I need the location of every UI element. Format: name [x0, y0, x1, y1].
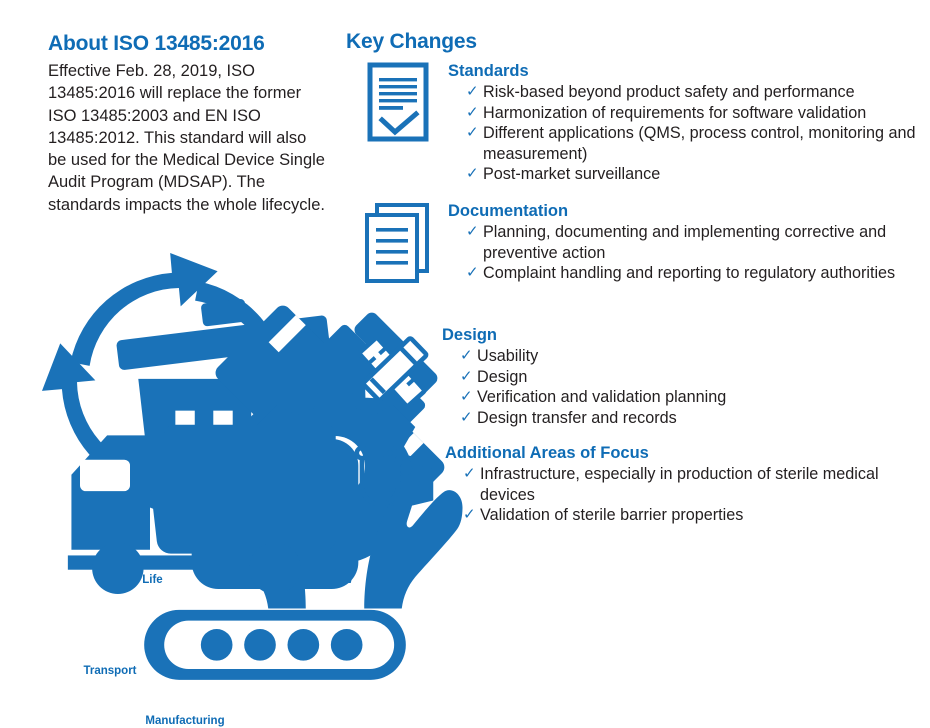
about-heading: About ISO 13485:2016	[48, 32, 265, 56]
bullet-item: ✓ Risk-based beyond product safety and p…	[466, 82, 930, 103]
check-icon: ✓	[466, 222, 479, 243]
bullet-item: ✓ Complaint handling and reporting to re…	[466, 263, 930, 284]
change-section-title: Design	[442, 326, 726, 345]
change-section-standards: Standards ✓ Risk-based beyond product sa…	[348, 58, 930, 185]
change-section-icon	[348, 58, 448, 142]
change-section-additional-areas-of-focus: x Additional Areas of Focus ✓ Infrastruc…	[345, 440, 930, 530]
bullet-item: ✓ Design transfer and records	[460, 408, 726, 429]
change-section-text: Design ✓ Usability ✓ Design ✓ Verificati…	[442, 322, 726, 428]
check-icon: ✓	[460, 387, 473, 408]
delivery-truck-icon	[50, 364, 350, 664]
left-column: About ISO 13485:2016 Effective Feb. 28, …	[0, 0, 340, 553]
bullet-item: ✓ Post-market surveillance	[466, 164, 930, 185]
bullet-text: Planning, documenting and implementing c…	[483, 223, 886, 262]
change-section-title: Documentation	[448, 202, 930, 221]
change-section-icon	[342, 322, 442, 418]
right-column: Key Changes Standards ✓ Risk-ba	[340, 0, 930, 553]
change-section-title: Additional Areas of Focus	[445, 444, 930, 463]
check-icon: ✓	[460, 367, 473, 388]
check-icon: ✓	[466, 103, 479, 124]
change-section-documentation: Documentation ✓ Planning, documenting an…	[348, 198, 930, 284]
bullet-item: ✓ Harmonization of requirements for soft…	[466, 103, 930, 124]
check-icon: ✓	[463, 464, 476, 485]
lifecycle-stage-label: Transport	[50, 665, 170, 678]
change-section-design: Design ✓ Usability ✓ Design ✓ Verificati…	[342, 322, 726, 428]
check-icon: ✓	[460, 408, 473, 429]
document-check-icon	[367, 62, 429, 142]
bullet-item: ✓ Different applications (QMS, process c…	[466, 123, 930, 164]
change-section-text: Documentation ✓ Planning, documenting an…	[448, 198, 930, 284]
change-section-icon	[348, 198, 448, 284]
bullet-item: ✓ Design	[460, 367, 726, 388]
change-section-bullets: ✓ Infrastructure, especially in producti…	[445, 464, 930, 526]
lifecycle-stage-label: Manufacturing	[125, 715, 245, 728]
bullet-text: Verification and validation planning	[477, 388, 726, 406]
bullet-text: Risk-based beyond product safety and per…	[483, 83, 855, 101]
lifecycle-stage-transport: Transport	[50, 364, 170, 678]
check-icon: ✓	[466, 263, 479, 284]
bullet-item: ✓ Planning, documenting and implementing…	[466, 222, 930, 263]
bullet-text: Harmonization of requirements for softwa…	[483, 104, 866, 122]
check-icon: ✓	[466, 123, 479, 144]
bullet-item: ✓ Usability	[460, 346, 726, 367]
bullet-text: Design	[477, 368, 527, 386]
bullet-item: ✓ Infrastructure, especially in producti…	[463, 464, 930, 505]
bullet-item: ✓ Validation of sterile barrier properti…	[463, 505, 930, 526]
change-section-bullets: ✓ Planning, documenting and implementing…	[448, 222, 930, 284]
change-section-icon: x	[345, 440, 445, 530]
pencil-ruler-icon	[346, 326, 438, 418]
stethoscope-icon: x	[352, 444, 438, 530]
change-section-bullets: ✓ Risk-based beyond product safety and p…	[448, 82, 930, 185]
bullet-text: Design transfer and records	[477, 409, 677, 427]
change-section-text: Standards ✓ Risk-based beyond product sa…	[448, 58, 930, 185]
change-section-bullets: ✓ Usability ✓ Design ✓ Verification and …	[442, 346, 726, 428]
svg-text:x: x	[388, 496, 396, 511]
bullet-text: Complaint handling and reporting to regu…	[483, 264, 895, 282]
check-icon: ✓	[463, 505, 476, 526]
lifecycle-diagram: End of Life	[25, 236, 325, 536]
bullet-text: Different applications (QMS, process con…	[483, 124, 915, 163]
bullet-item: ✓ Verification and validation planning	[460, 387, 726, 408]
change-section-title: Standards	[448, 62, 930, 81]
about-body-text: Effective Feb. 28, 2019, ISO 13485:2016 …	[48, 60, 328, 216]
bullet-text: Infrastructure, especially in production…	[480, 465, 879, 504]
key-changes-heading: Key Changes	[346, 30, 477, 54]
check-icon: ✓	[466, 164, 479, 185]
bullet-text: Post-market surveillance	[483, 165, 660, 183]
bullet-text: Usability	[477, 347, 538, 365]
check-icon: ✓	[460, 346, 473, 367]
check-icon: ✓	[466, 82, 479, 103]
stacked-documents-icon	[363, 202, 433, 284]
change-section-text: Additional Areas of Focus ✓ Infrastructu…	[445, 440, 930, 526]
bullet-text: Validation of sterile barrier properties	[480, 506, 743, 524]
